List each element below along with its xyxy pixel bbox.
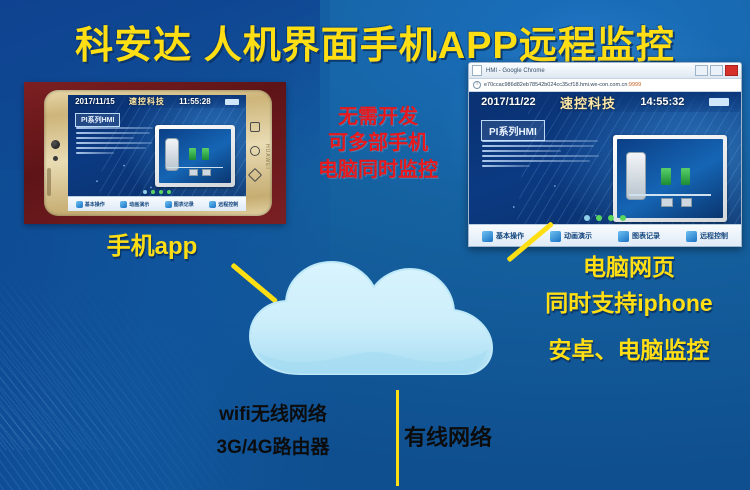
- web-hmi-time: 14:55:32: [640, 96, 684, 108]
- web-label-line-3: 安卓、电脑监控: [508, 333, 750, 369]
- web-nav-label-0: 基本操作: [496, 231, 524, 241]
- phone-nav-label-1: 动画演示: [129, 201, 149, 208]
- phone-side-button: [47, 168, 51, 196]
- web-nav-item-0[interactable]: 基本操作: [482, 231, 524, 242]
- maximize-icon[interactable]: [710, 65, 723, 76]
- phone-hmi-device-image: [155, 125, 236, 187]
- web-hmi-brand: 速控科技: [560, 93, 616, 112]
- red-callout: 无需开发 可多部手机 电脑同时监控: [296, 104, 460, 183]
- pump-graphic-2: [681, 168, 691, 185]
- phone-hmi-page-dots[interactable]: [143, 190, 171, 194]
- web-label-line-1: 电脑网页: [508, 250, 750, 286]
- chart-icon: [618, 231, 629, 242]
- wireless-network-label: wifi无线网络 3G/4G路由器: [168, 398, 378, 465]
- close-icon[interactable]: [725, 65, 738, 76]
- wireless-line-2: 3G/4G路由器: [168, 431, 378, 464]
- browser-url-port: :9999: [627, 82, 641, 88]
- phone-nav-back-icon: [248, 168, 262, 182]
- web-hmi-navbar[interactable]: 基本操作 动画演示 图表记录 远程控制: [469, 224, 741, 247]
- web-nav-item-1[interactable]: 动画演示: [550, 231, 592, 242]
- web-nav-label-3: 远程控制: [700, 231, 728, 241]
- wifi-icon: [686, 231, 697, 242]
- web-hmi-statusbar: 2017/11/22 速控科技 14:55:32: [469, 92, 741, 112]
- browser-window-controls[interactable]: [695, 65, 738, 76]
- red-callout-line-3: 电脑同时监控: [296, 157, 460, 183]
- web-hmi-heading: PI系列HMI: [481, 120, 545, 141]
- red-callout-line-2: 可多部手机: [296, 130, 460, 156]
- wired-line-1: 有线网络: [404, 420, 594, 452]
- browser-titlebar[interactable]: HMI - Google Chrome: [469, 63, 741, 79]
- phone-nav-item-1[interactable]: 动画演示: [120, 201, 149, 208]
- phone-product-photo: HUAWEI 2017/11/15 速控科技 11:55:28 PI系列HMI: [24, 82, 286, 224]
- phone-hmi-brand: 速控科技: [129, 96, 165, 107]
- web-hmi-page-dots[interactable]: [584, 215, 626, 221]
- phone-screen: 2017/11/15 速控科技 11:55:28 PI系列HMI: [68, 95, 246, 211]
- pump-graphic-1: [661, 168, 671, 185]
- phone-camera-icon: [51, 140, 60, 149]
- phone-body: HUAWEI 2017/11/15 速控科技 11:55:28 PI系列HMI: [44, 90, 272, 216]
- phone-nav-label-2: 图表记录: [174, 201, 194, 208]
- web-nav-item-2[interactable]: 图表记录: [618, 231, 660, 242]
- browser-address-bar[interactable]: i e70ccac986d82eb78542b024cc35cf18.hmi.w…: [469, 79, 741, 92]
- phone-nav-label-3: 远程控制: [218, 201, 238, 208]
- hand-icon: [76, 201, 83, 208]
- browser-window[interactable]: HMI - Google Chrome i e70ccac986d82eb785…: [468, 62, 742, 247]
- phone-nav-home-icon: [250, 146, 260, 156]
- play-icon: [120, 201, 127, 208]
- minimize-icon[interactable]: [695, 65, 708, 76]
- page-icon: [472, 65, 482, 76]
- chart-icon: [165, 201, 172, 208]
- phone-nav-item-0[interactable]: 基本操作: [76, 201, 105, 208]
- web-label-line-2: 同时支持iphone: [508, 286, 750, 322]
- web-labels: 电脑网页 同时支持iphone 安卓、电脑监控: [508, 250, 750, 369]
- network-divider: [396, 390, 399, 486]
- phone-hmi-statusbar: 2017/11/15 速控科技 11:55:28: [68, 95, 246, 108]
- web-hmi-device-image: [613, 135, 728, 222]
- phone-nav-label-0: 基本操作: [85, 201, 105, 208]
- web-hmi-date: 2017/11/22: [481, 96, 535, 108]
- phone-nav-item-3[interactable]: 远程控制: [209, 201, 238, 208]
- page-title: 科安达 人机界面手机APP远程监控: [0, 14, 750, 69]
- web-hmi-logout-button[interactable]: [709, 98, 729, 106]
- poster-canvas: 科安达 人机界面手机APP远程监控 HUAWEI 2017/11/15 速控科技…: [0, 0, 750, 490]
- phone-hmi-app: 2017/11/15 速控科技 11:55:28 PI系列HMI: [68, 95, 246, 211]
- browser-viewport: 2017/11/22 速控科技 14:55:32 PI系列HMI: [469, 92, 741, 247]
- hand-icon: [482, 231, 493, 242]
- cloud-icon: [242, 256, 504, 388]
- web-nav-label-2: 图表记录: [632, 231, 660, 241]
- red-callout-line-1: 无需开发: [296, 104, 460, 130]
- phone-hmi-logout-button[interactable]: [225, 99, 239, 105]
- web-nav-label-1: 动画演示: [564, 231, 592, 241]
- web-hmi-app: 2017/11/22 速控科技 14:55:32 PI系列HMI: [469, 92, 741, 247]
- phone-speaker-icon: [53, 156, 58, 161]
- wireless-line-1: wifi无线网络: [168, 398, 378, 431]
- phone-hmi-time: 11:55:28: [179, 97, 211, 106]
- phone-hmi-description-text: [76, 127, 156, 157]
- phone-nav-item-2[interactable]: 图表记录: [165, 201, 194, 208]
- browser-url-value: e70ccac986d82eb78542b024cc35cf18.hmi.we-…: [484, 82, 627, 88]
- pump-graphic-2: [202, 148, 209, 160]
- play-icon: [550, 231, 561, 242]
- phone-hmi-heading: PI系列HMI: [75, 113, 120, 127]
- web-hmi-description-text: [482, 140, 602, 170]
- phone-nav-recent-icon: [250, 122, 260, 132]
- phone-brand-text: HUAWEI: [264, 144, 270, 170]
- wifi-icon: [209, 201, 216, 208]
- browser-window-title: HMI - Google Chrome: [486, 68, 545, 74]
- phone-app-label: 手机app: [62, 226, 242, 261]
- tank-graphic: [626, 152, 646, 200]
- pump-graphic-1: [189, 148, 196, 160]
- info-icon[interactable]: i: [473, 81, 481, 89]
- web-nav-item-3[interactable]: 远程控制: [686, 231, 728, 242]
- browser-url-text: e70ccac986d82eb78542b024cc35cf18.hmi.we-…: [484, 82, 641, 88]
- wired-network-label: 有线网络: [404, 420, 594, 452]
- phone-hmi-navbar[interactable]: 基本操作 动画演示 图表记录 远程控制: [68, 196, 246, 211]
- phone-hmi-date: 2017/11/15: [75, 97, 115, 106]
